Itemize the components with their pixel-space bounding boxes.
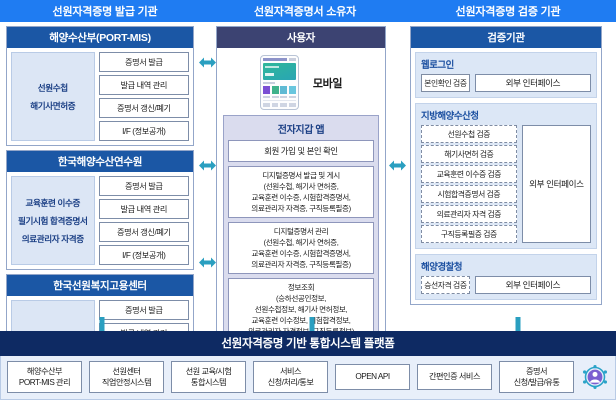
columns: 해양수산부(PORT-MIS) 선원수첩 해기사면허증 증명서 발급 발급 내역…: [0, 22, 616, 332]
user-network-icon: [581, 365, 609, 389]
platform-section: 선원자격증명 기반 통합시스템 플랫폼 해양수산부PORT-MIS 관리 선원센…: [0, 331, 616, 400]
panel-body-user: 모바일 전자지갑 앱 회원 가입 및 본인 확인 디지털증명서 발급 및 게시(…: [217, 48, 385, 350]
panel-body-port-mis: 선원수첩 해기사면허증 증명서 발급 발급 내역 관리 증명서 갱신/폐기 I/…: [7, 48, 193, 145]
panel-verification-org: 검증기관 웹로그인 본인확인 검증 외부 인터페이스 지방해양수산청: [410, 26, 602, 305]
chip-verify-seaman-book[interactable]: 선원수첩 검증: [421, 125, 517, 143]
cert-list-training-institute: 교육훈련 이수증 필기시험 합격증명서 의료관리자 자격증: [11, 176, 95, 265]
wallet-app-group: 전자지갑 앱 회원 가입 및 본인 확인 디지털증명서 발급 및 게시(선원수첩…: [223, 115, 379, 346]
cert-label: 필기시험 합격증명서: [18, 215, 88, 227]
banner-verification-org: 선원자격증명 검증 기관: [400, 0, 616, 22]
action-issue-certificate[interactable]: 증명서 발급: [99, 300, 189, 320]
verification-organizations-column: 검증기관 웹로그인 본인확인 검증 외부 인터페이스 지방해양수산청: [408, 24, 608, 332]
double-arrow-horizontal-icon: [199, 56, 216, 69]
cert-label: 의료관리자 자격증: [22, 233, 84, 245]
wallet-card-preview: [263, 63, 296, 80]
smartphone-mockup: [260, 55, 299, 110]
panel-body-verification-org: 웹로그인 본인확인 검증 외부 인터페이스 지방해양수산청 선원수첩 검증 해기…: [411, 48, 601, 304]
cert-label: 해기사면허증: [30, 100, 75, 112]
double-arrow-horizontal-icon: [199, 159, 216, 172]
app-icons-row: [263, 86, 296, 94]
panel-header-user: 사용자: [217, 27, 385, 48]
platform-item-open-api[interactable]: OPEN API: [335, 364, 410, 390]
platform-item-port-mis-management[interactable]: 해양수산부PORT-MIS 관리: [7, 361, 82, 393]
action-manage-issue-history[interactable]: 발급 내역 관리: [99, 75, 189, 95]
external-interface-coast-guard[interactable]: 외부 인터페이스: [475, 276, 591, 294]
chip-verify-exam-pass-certificate[interactable]: 시험합격증명서 검증: [421, 185, 517, 203]
action-issue-certificate[interactable]: 증명서 발급: [99, 176, 189, 196]
external-interface-web-login[interactable]: 외부 인터페이스: [475, 74, 591, 92]
group-title-web-login: 웹로그인: [421, 57, 591, 74]
issuing-organizations-column: 해양수산부(PORT-MIS) 선원수첩 해기사면허증 증명서 발급 발급 내역…: [0, 24, 198, 332]
external-interface-regional-maritime-office[interactable]: 외부 인터페이스: [522, 125, 591, 243]
chip-verify-boarding-qualification[interactable]: 승선자격 검증: [421, 276, 470, 294]
wallet-feature-issue-publish[interactable]: 디지털증명서 발급 및 게시(선원수첩, 해기사 면허증,교육훈련 이수증, 시…: [228, 166, 374, 218]
action-interface-disclosure[interactable]: I/F (정보공개): [99, 245, 189, 265]
chip-verify-training-completion[interactable]: 교육훈련 이수증 검증: [421, 165, 517, 183]
banner-issuing-org: 선원자격증명 발급 기관: [0, 0, 210, 22]
platform-items-row: 해양수산부PORT-MIS 관리 선원센터직업안정시스템 선원 교육/시험통합시…: [0, 356, 616, 400]
actions-port-mis: 증명서 발급 발급 내역 관리 증명서 갱신/폐기 I/F (정보공개): [99, 52, 189, 141]
platform-title: 선원자격증명 기반 통합시스템 플랫폼: [0, 331, 616, 356]
action-renew-revoke-certificate[interactable]: 증명서 갱신/폐기: [99, 222, 189, 242]
banner-certificate-owner: 선원자격증명서 소유자: [210, 0, 400, 22]
wallet-app-title: 전자지갑 앱: [228, 120, 374, 140]
certificate-owner-column: 사용자 모바일 전자지갑 앱: [216, 24, 386, 332]
double-arrow-horizontal-icon: [199, 256, 216, 269]
panel-header-welfare-employment-center: 한국선원복지고용센터: [7, 275, 193, 296]
mobile-device-row: 모바일: [223, 52, 379, 115]
chip-verify-medical-manager-qualification[interactable]: 의료관리자 자격 검증: [421, 205, 517, 223]
group-web-login: 웹로그인 본인확인 검증 외부 인터페이스: [415, 52, 597, 98]
action-issue-certificate[interactable]: 증명서 발급: [99, 52, 189, 72]
cert-list-port-mis: 선원수첩 해기사면허증: [11, 52, 95, 141]
group-title-regional-maritime-office: 지방해양수산청: [421, 108, 591, 125]
group-regional-maritime-office: 지방해양수산청 선원수첩 검증 해기사면허 검증 교육훈련 이수증 검증 시험합…: [415, 103, 597, 249]
panel-port-mis: 해양수산부(PORT-MIS) 선원수첩 해기사면허증 증명서 발급 발급 내역…: [6, 26, 194, 146]
group-title-coast-guard: 해양경찰청: [421, 259, 591, 276]
group-coast-guard: 해양경찰청 승선자격 검증 외부 인터페이스: [415, 254, 597, 300]
double-arrow-horizontal-icon: [389, 159, 406, 172]
action-manage-issue-history[interactable]: 발급 내역 관리: [99, 199, 189, 219]
platform-item-simple-auth-service[interactable]: 간편인증 서비스: [417, 364, 492, 390]
panel-header-training-institute: 한국해양수산연수원: [7, 151, 193, 172]
cert-label: 교육훈련 이수증: [26, 197, 81, 209]
chip-list-regional-maritime-office: 선원수첩 검증 해기사면허 검증 교육훈련 이수증 검증 시험합격증명서 검증 …: [421, 125, 517, 243]
platform-item-certificate-request-issue-distribution[interactable]: 증명서신청/발급/유통: [499, 361, 574, 393]
actions-training-institute: 증명서 발급 발급 내역 관리 증명서 갱신/폐기 I/F (정보공개): [99, 176, 189, 265]
panel-user: 사용자 모바일 전자지갑 앱: [216, 26, 386, 351]
wallet-feature-manage[interactable]: 디지털증명서 관리(선원수첩, 해기사 연허증,교육훈련 이수증, 시험합격증명…: [228, 222, 374, 274]
arrow-gap-right: [386, 24, 408, 332]
chip-verify-job-registration[interactable]: 구직등록필증 검증: [421, 225, 517, 243]
chip-verify-officer-license[interactable]: 해기사면허 검증: [421, 145, 517, 163]
action-interface-disclosure[interactable]: I/F (정보공개): [99, 121, 189, 141]
platform-item-service-request-processing[interactable]: 서비스신청/처리/통보: [253, 361, 328, 393]
bottom-nav-bar: [263, 100, 296, 107]
mobile-label: 모바일: [313, 75, 342, 91]
diagram-root: 선원자격증명 발급 기관 선원자격증명서 소유자 선원자격증명 검증 기관 해양…: [0, 0, 616, 400]
panel-body-training-institute: 교육훈련 이수증 필기시험 합격증명서 의료관리자 자격증 증명서 발급 발급 …: [7, 172, 193, 269]
cert-label: 선원수첩: [38, 82, 68, 94]
panel-header-verification-org: 검증기관: [411, 27, 601, 48]
platform-item-education-exam-system[interactable]: 선원 교육/시험통합시스템: [171, 361, 246, 393]
platform-item-employment-stability-system[interactable]: 선원센터직업안정시스템: [89, 361, 164, 393]
panel-training-institute: 한국해양수산연수원 교육훈련 이수증 필기시험 합격증명서 의료관리자 자격증 …: [6, 150, 194, 270]
action-renew-revoke-certificate[interactable]: 증명서 갱신/폐기: [99, 98, 189, 118]
panel-header-port-mis: 해양수산부(PORT-MIS): [7, 27, 193, 48]
arrow-gap-left: [198, 24, 216, 332]
wallet-feature-signup[interactable]: 회원 가입 및 본인 확인: [228, 140, 374, 162]
chip-identity-verification[interactable]: 본인확인 검증: [421, 74, 470, 92]
banner-row: 선원자격증명 발급 기관 선원자격증명서 소유자 선원자격증명 검증 기관: [0, 0, 616, 22]
